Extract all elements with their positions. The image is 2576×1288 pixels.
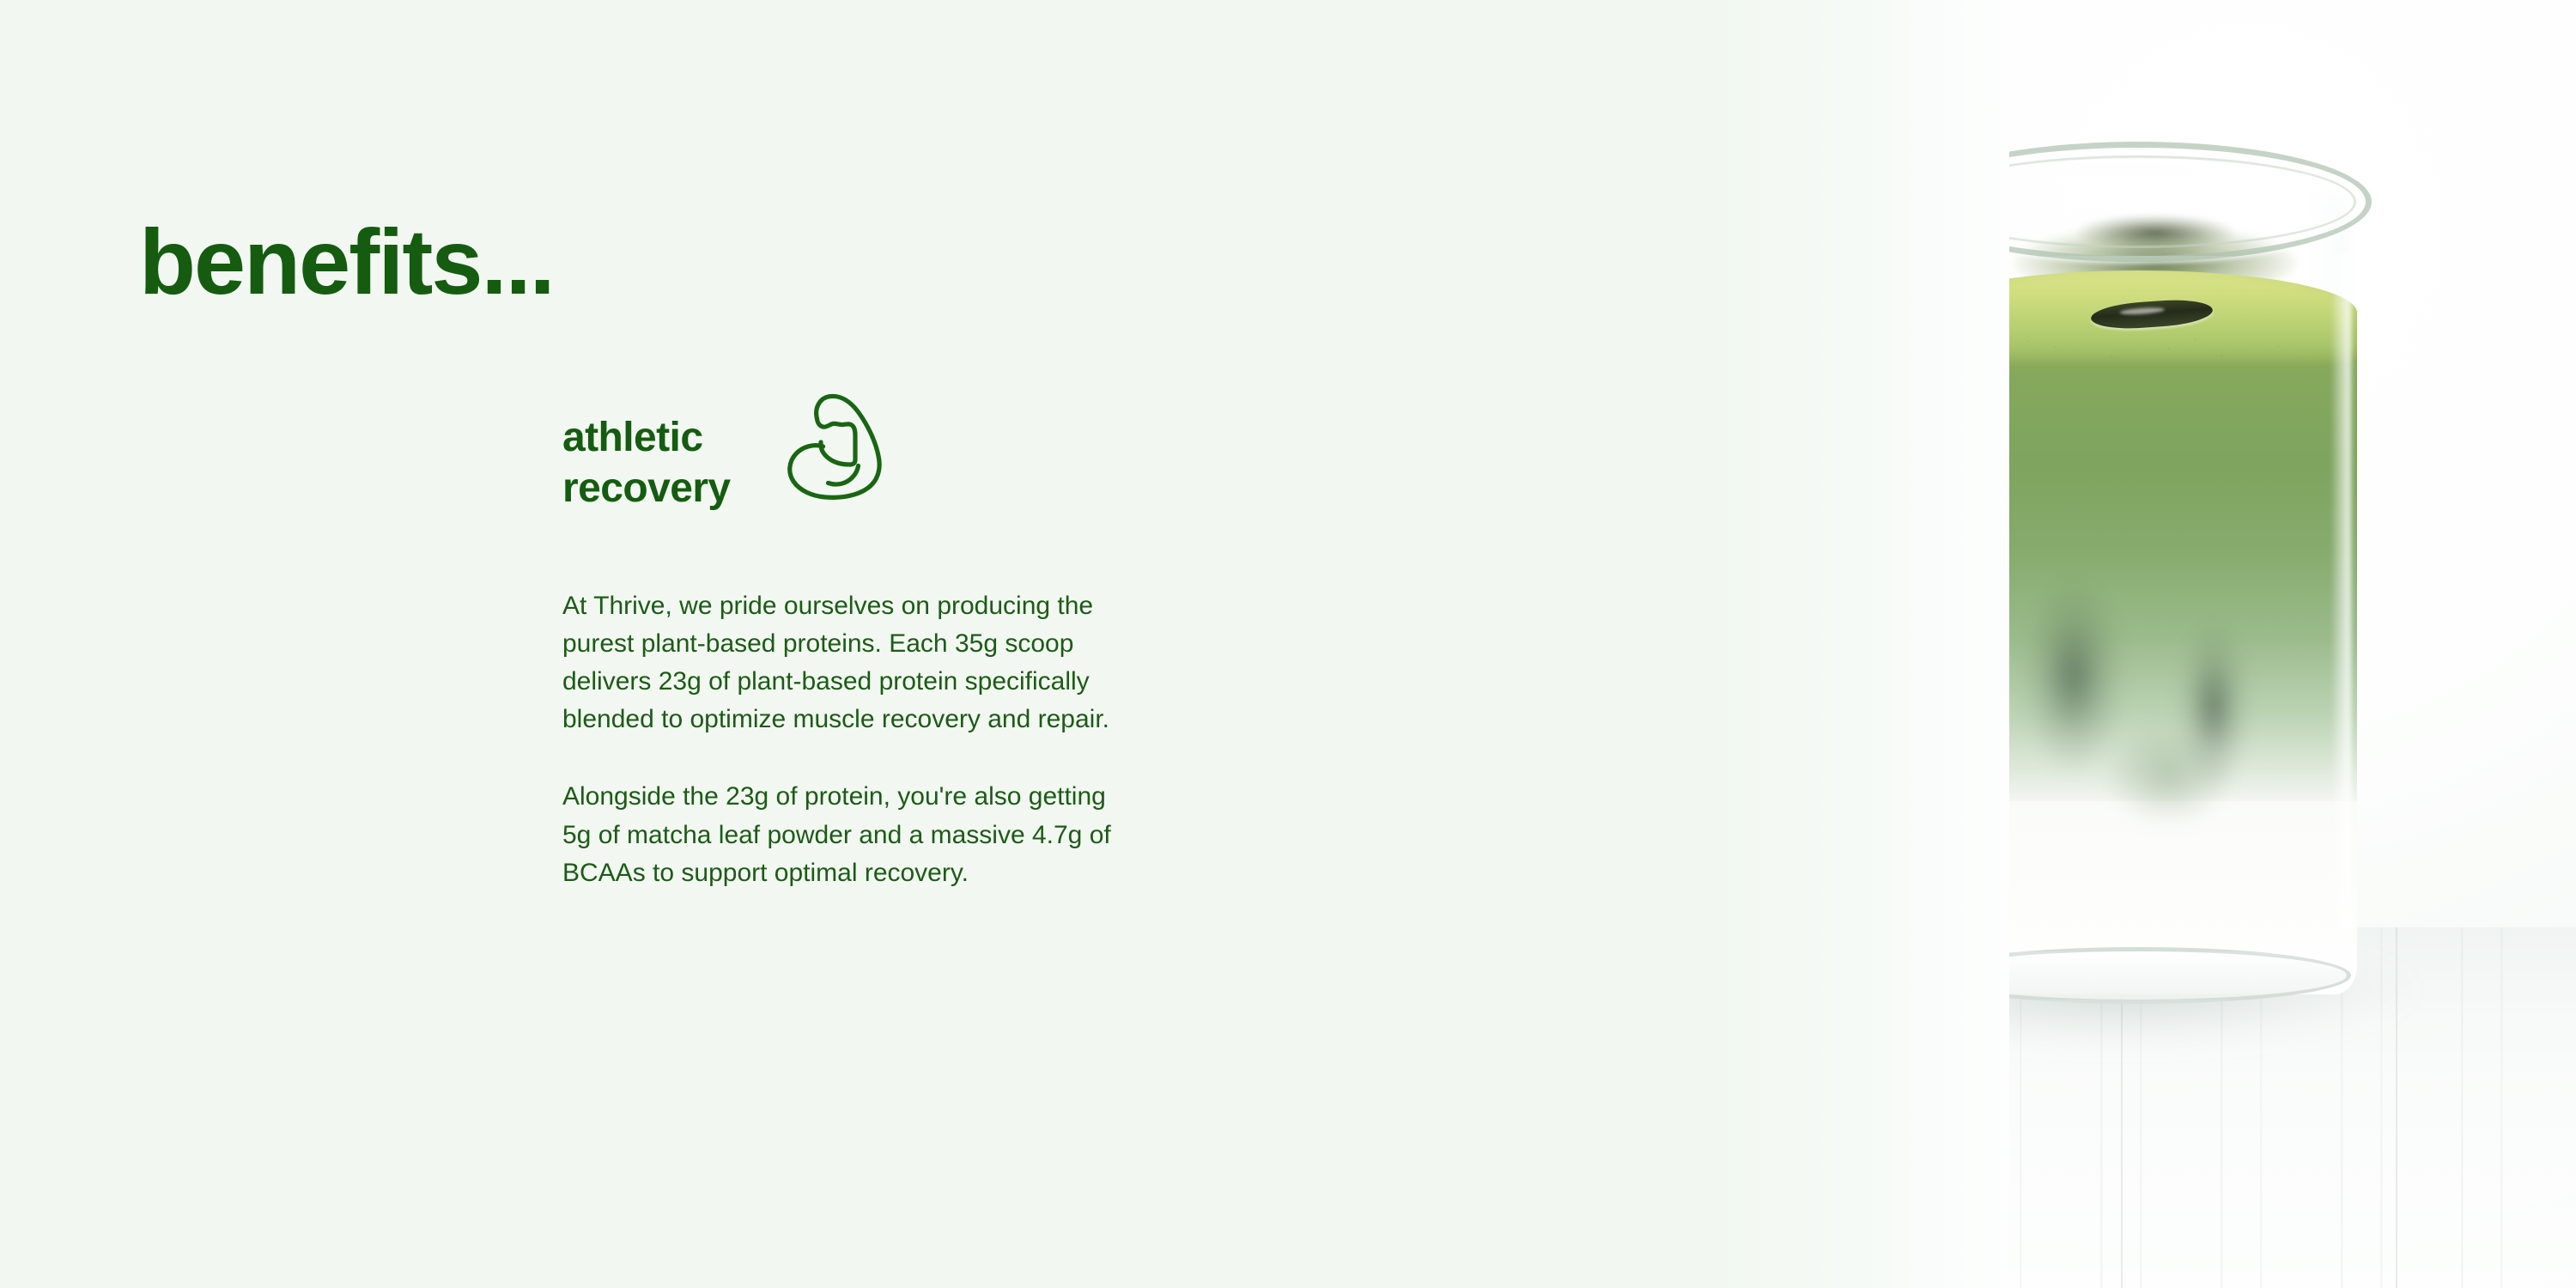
- benefit-header: athletic recovery: [562, 391, 1636, 513]
- glass-base: [1925, 947, 2351, 1004]
- benefits-section: benefits... athletic recovery At Thrive,…: [0, 0, 2576, 1288]
- benefit-title: athletic recovery: [562, 391, 731, 513]
- benefit-card: athletic recovery At Thrive, we pride ou…: [562, 391, 1636, 892]
- flexed-bicep-icon: [779, 389, 908, 505]
- content-column: benefits... athletic recovery At Thrive,…: [0, 0, 1760, 1288]
- drinking-glass: [1880, 142, 2396, 1000]
- glass-highlight-right: [2332, 253, 2351, 932]
- glass-highlight-left: [1929, 245, 1951, 932]
- matcha-latte-photo: [1717, 0, 2576, 1288]
- glass-body: [1919, 191, 2357, 994]
- matcha-layer: [1919, 320, 2357, 801]
- benefit-description: At Thrive, we pride ourselves on produci…: [562, 587, 1122, 892]
- benefit-paragraph-1: At Thrive, we pride ourselves on produci…: [562, 587, 1122, 738]
- glass-rim-inner: [1920, 155, 2356, 248]
- benefit-paragraph-2: Alongside the 23g of protein, you're als…: [562, 778, 1122, 891]
- page-title: benefits...: [139, 213, 554, 310]
